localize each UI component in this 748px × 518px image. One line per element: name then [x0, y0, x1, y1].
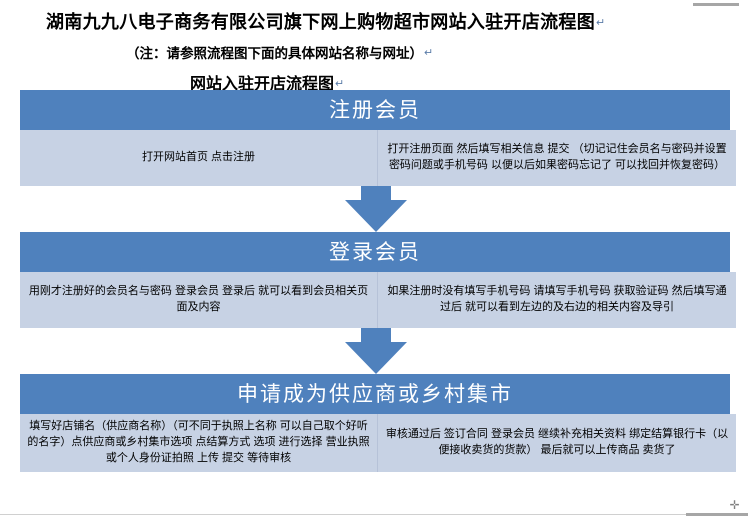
stage-column-right-text: 审核通过后 签订合同 登录会员 继续补充相关资料 绑定结算银行卡（以便接收卖货的…	[385, 427, 729, 459]
stage-column-left: 用刚才注册好的会员名与密码 登录会员 登录后 就可以看到会员相关页面及内容	[20, 272, 378, 328]
stage-column-right: 审核通过后 签订合同 登录会员 继续补充相关资料 绑定结算银行卡（以便接收卖货的…	[378, 414, 736, 472]
stage-body-register: 打开网站首页 点击注册 打开注册页面 然后填写相关信息 提交 （切记记住会员名与…	[20, 130, 736, 186]
stage-header-apply-supplier: 申请成为供应商或乡村集市	[20, 374, 730, 414]
down-arrow-head	[345, 200, 407, 232]
pilcrow-mark: ↵	[423, 47, 433, 59]
flow-stage-apply-supplier: 申请成为供应商或乡村集市 填写好店铺名（供应商名称）（可不同于执照上名称 可以自…	[0, 374, 748, 472]
pilcrow-mark: ↵	[334, 78, 344, 90]
flow-connector-2	[0, 328, 748, 374]
flow-connector-1	[0, 186, 748, 232]
stage-header-login: 登录会员	[20, 232, 730, 272]
document-title-block: 湖南九九八电子商务有限公司旗下网上购物超市网站入驻开店流程图↵ （注：请参照流程…	[0, 0, 748, 94]
page-subtitle-note-text: （注：请参照流程图下面的具体网站名称与网址）	[126, 46, 423, 61]
stage-column-left-text: 填写好店铺名（供应商名称）（可不同于执照上名称 可以自己取个好听的名字）点供应商…	[27, 419, 370, 467]
flow-stage-login: 登录会员 用刚才注册好的会员名与密码 登录会员 登录后 就可以看到会员相关页面及…	[0, 232, 748, 328]
stage-header-label: 登录会员	[329, 242, 421, 263]
stage-column-left: 打开网站首页 点击注册	[20, 130, 378, 186]
stage-body-login: 用刚才注册好的会员名与密码 登录会员 登录后 就可以看到会员相关页面及内容 如果…	[20, 272, 736, 328]
pilcrow-mark: ↵	[595, 17, 606, 29]
flowchart: 注册会员 打开网站首页 点击注册 打开注册页面 然后填写相关信息 提交 （切记记…	[0, 90, 748, 472]
down-arrow-icon	[345, 328, 407, 374]
move-handle-icon[interactable]: ✛	[729, 500, 740, 511]
stage-column-right-text: 如果注册时没有填写手机号码 请填写手机号码 获取验证码 然后填写通过后 就可以看…	[385, 284, 729, 316]
stage-body-apply-supplier: 填写好店铺名（供应商名称）（可不同于执照上名称 可以自己取个好听的名字）点供应商…	[20, 414, 736, 472]
bottom-divider	[0, 514, 748, 515]
stage-column-right: 打开注册页面 然后填写相关信息 提交 （切记记住会员名与密码并设置密码问题或手机…	[378, 130, 736, 186]
stage-header-label: 注册会员	[329, 100, 421, 121]
stage-column-right-text: 打开注册页面 然后填写相关信息 提交 （切记记住会员名与密码并设置密码问题或手机…	[385, 142, 729, 174]
stage-header-register: 注册会员	[20, 90, 730, 130]
page-subtitle-note: （注：请参照流程图下面的具体网站名称与网址）↵	[0, 34, 748, 62]
page-title: 湖南九九八电子商务有限公司旗下网上购物超市网站入驻开店流程图↵	[0, 0, 748, 34]
stage-column-left: 填写好店铺名（供应商名称）（可不同于执照上名称 可以自己取个好听的名字）点供应商…	[20, 414, 378, 472]
flow-stage-register: 注册会员 打开网站首页 点击注册 打开注册页面 然后填写相关信息 提交 （切记记…	[0, 90, 748, 186]
stage-header-label: 申请成为供应商或乡村集市	[237, 384, 513, 405]
down-arrow-icon	[345, 186, 407, 232]
down-arrow-head	[345, 342, 407, 374]
stage-column-right: 如果注册时没有填写手机号码 请填写手机号码 获取验证码 然后填写通过后 就可以看…	[378, 272, 736, 328]
stage-column-left-text: 用刚才注册好的会员名与密码 登录会员 登录后 就可以看到会员相关页面及内容	[27, 284, 370, 316]
stage-column-left-text: 打开网站首页 点击注册	[142, 150, 255, 166]
page-title-text: 湖南九九八电子商务有限公司旗下网上购物超市网站入驻开店流程图	[46, 12, 595, 32]
ruler-mark-bottom	[686, 513, 748, 516]
